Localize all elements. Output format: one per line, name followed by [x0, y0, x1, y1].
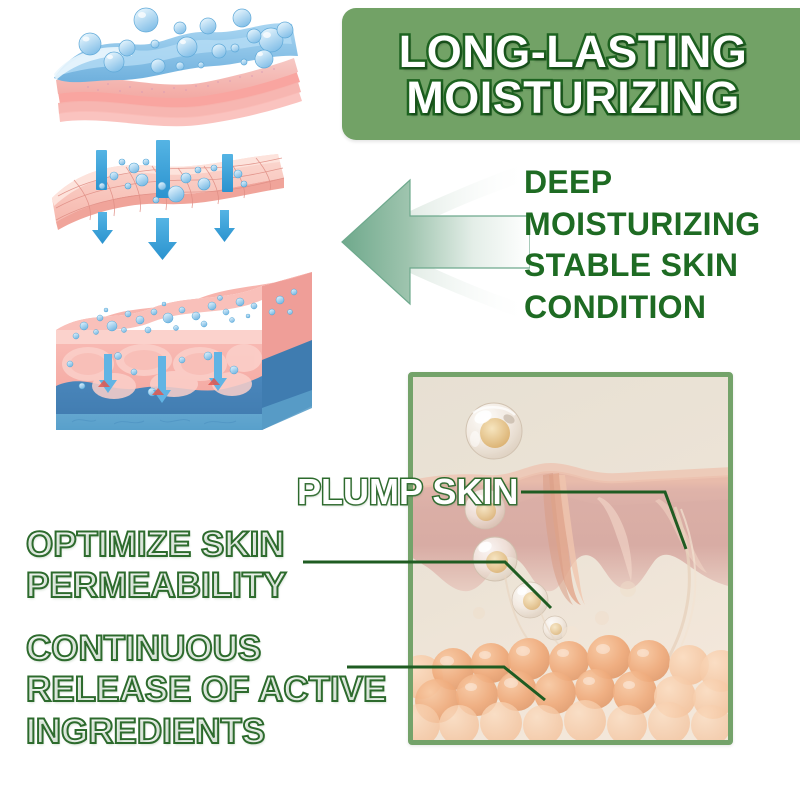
callout-optimize-line-2: PERMEABILITY — [26, 565, 287, 606]
infographic-canvas: LONG-LASTING MOISTURIZING DEEP MOISTURIZ… — [0, 0, 800, 800]
callout-continuous-release: CONTINUOUS RELEASE OF ACTIVE INGREDIENTS — [26, 628, 386, 752]
diagram-skin-mesh-penetration — [38, 140, 328, 270]
callout-optimize-line-1: OPTIMIZE SKIN — [26, 524, 287, 565]
callout-continuous-line-2: RELEASE OF ACTIVE — [26, 669, 386, 710]
benefit-line-1: DEEP — [524, 162, 794, 204]
essence-droplet-large — [466, 403, 522, 459]
benefit-line-4: CONDITION — [524, 287, 794, 329]
plump-skin-illustration — [413, 377, 728, 740]
callout-optimize-permeability: OPTIMIZE SKIN PERMEABILITY — [26, 524, 287, 607]
callout-continuous-line-3: INGREDIENTS — [26, 711, 386, 752]
callout-plump-skin-line-1: PLUMP SKIN — [297, 471, 518, 513]
diagram-water-layer-on-skin — [28, 4, 328, 139]
collagen-microspheres — [413, 635, 728, 740]
benefit-line-3: STABLE SKIN — [524, 245, 794, 287]
plump-skin-photo-panel — [408, 372, 733, 745]
benefit-text-block: DEEP MOISTURIZING STABLE SKIN CONDITION — [524, 162, 794, 328]
diagram-skin-cross-section-block — [48, 268, 336, 450]
title-banner-text: LONG-LASTING MOISTURIZING — [342, 10, 800, 140]
callout-continuous-line-1: CONTINUOUS — [26, 628, 386, 669]
callout-plump-skin: PLUMP SKIN — [297, 471, 518, 513]
banner-line-2: MOISTURIZING — [406, 75, 739, 121]
benefit-line-2: MOISTURIZING — [524, 204, 794, 246]
banner-line-1: LONG-LASTING — [399, 29, 747, 75]
left-pointing-arrow — [330, 150, 530, 335]
